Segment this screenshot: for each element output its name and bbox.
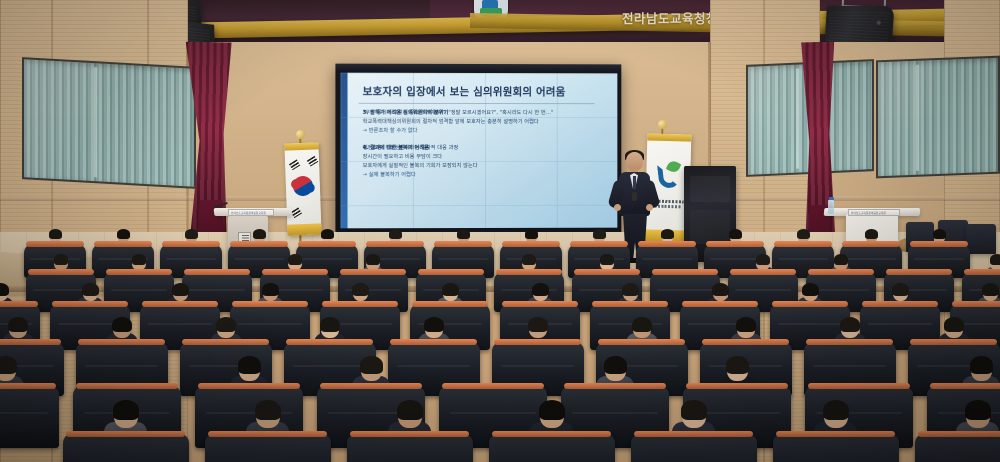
audience-member-hair [622,283,639,296]
audience-seating [0,246,1000,462]
wireless-microphone-icon [632,192,637,201]
audience-member-hair [982,283,999,296]
audience-member-hair [172,283,189,296]
audience-member-hair [970,356,993,374]
auditorium-seat [631,434,757,462]
audience-member-hair [632,317,652,332]
audience-member-hair [113,400,139,420]
audience-member-hair [49,229,62,239]
audience-member-hair [288,254,303,265]
audience-member-hair [797,229,810,239]
audience-member-hair [389,229,402,239]
slide-line: 학교폭력대책심의위원회의 절차적 엄격함 앞에 보호자는 충분히 설명하기 어렵… [363,118,610,127]
audience-member-hair [990,254,1000,265]
auditorium-seat [347,434,473,462]
water-bottle [828,200,834,214]
audience-member-hair [834,254,849,265]
slide-line: 3. 말하기 어려운 심의위원회의 분위기 [363,109,449,118]
audience-member-hair [320,317,340,332]
flagpole-finial-national [296,130,305,139]
trigram-icon [289,159,300,170]
audience-member-hair [539,400,565,420]
audience-member-hair [54,254,69,265]
audience-member-hair [366,254,381,265]
audience-member-hair [457,229,470,239]
slide-group-4: 4. 결과에 대한 불복의 어려움 행정소송, 행정심판이라는 절차적 대응 과… [363,144,610,180]
taeguk-symbol [289,172,316,199]
audience-member-hair [0,283,9,296]
audience-member-hair [216,317,236,332]
audience-member-hair [132,254,147,265]
auditorium-seat [489,434,615,462]
audience-member-hair [823,400,849,420]
lectern-left-sign-text: 전라남도교육청창의융합교육원 [231,211,266,215]
audience-member-hair [528,317,548,332]
lectern-right-sign: 전라남도교육청창의융합교육원 [848,209,900,216]
trigram-icon [291,207,302,218]
audience-member-hair [185,229,198,239]
slide-line: → 반론조차 할 수가 없다 [363,127,610,136]
korean-national-flag [284,142,321,235]
audience-member-hair [525,229,538,239]
audience-member-hair [736,317,756,332]
auditorium-seat [773,434,899,462]
lectern-right-sign-text: 전라남도교육청창의융합교육원 [851,211,886,215]
audience-member-hair [117,229,130,239]
audience-member-hair [604,356,627,374]
window-right-2-with-blinds [876,56,1000,179]
audience-member-hair [712,283,729,296]
presentation-slide: 보호자의 입장에서 보는 심의위원회의 어려움 3. 말하기 어려운 심의위원회… [340,73,617,229]
institution-logo-icon [655,160,682,195]
audience-member-hair [112,317,132,332]
audience-member-hair [397,400,423,420]
auditorium-seat [0,386,59,448]
audience-member-hair [865,229,878,239]
slide-title: 보호자의 입장에서 보는 심의위원회의 어려움 [363,86,608,99]
audience-member-hair [262,283,279,296]
lectern-left-sign: 전라남도교육청창의융합교육원 [228,209,274,216]
audience-member-hair [253,229,266,239]
audience-member-hair [756,254,771,265]
slide-group-3: 3. 말하기 어려운 심의위원회의 분위기 "무슨 증거가 그렇게 중요한 거예… [363,109,610,136]
auditorium-seat [205,434,331,462]
audience-member-hair [965,400,991,420]
audience-member-hair [802,283,819,296]
audience-member-hair [726,356,749,374]
audience-member-hair [0,356,17,374]
audience-member-hair [352,283,369,296]
audience-member-hair [944,317,964,332]
audience-member-hair [729,229,742,239]
audience-member-hair [522,254,537,265]
audience-member-hair [442,283,459,296]
auditorium-seat [63,434,189,462]
audience-member-hair [933,229,946,239]
slide-body: 3. 말하기 어려운 심의위원회의 분위기 "무슨 증거가 그렇게 중요한 거예… [363,109,610,188]
audience-member-hair [424,317,444,332]
slide-line: → 실제 불복하기 어렵다 [363,171,610,180]
audience-member-hair [321,229,334,239]
audience-member-hair [360,356,383,374]
audience-member-hair [238,356,261,374]
audience-member-hair [593,229,606,239]
audience-member-hair [82,283,99,296]
trigram-icon [307,156,318,167]
projection-screen: 보호자의 입장에서 보는 심의위원회의 어려움 3. 말하기 어려운 심의위원회… [335,64,621,239]
audience-member-hair [892,283,909,296]
auditorium-photo: 전라남도교육청창의융합교육원 보호자의 입장에서 보는 심의위원회의 어려움 [0,0,1000,462]
audience-member-hair [255,400,281,420]
presenter-tie [633,176,636,189]
audience-member-hair [8,317,28,332]
audience-member-hair [840,317,860,332]
slide-line: 4. 결과에 대한 불복의 어려움 [363,144,429,153]
auditorium-seat [915,434,1000,462]
audience-member-hair [681,400,707,420]
audience-member-hair [661,229,674,239]
audience-member-hair [600,254,615,265]
slide-line: 보호자에게 실질적인 불복의 기회가 보장되지 않는다 [363,162,610,171]
screen-top-bar [335,64,621,73]
window-left-with-blinds [22,57,196,189]
audience-member-hair [532,283,549,296]
flagpole-finial-institution [658,120,667,129]
slide-line: 장시간이 필요하고 비용 부담이 크다 [363,153,610,162]
